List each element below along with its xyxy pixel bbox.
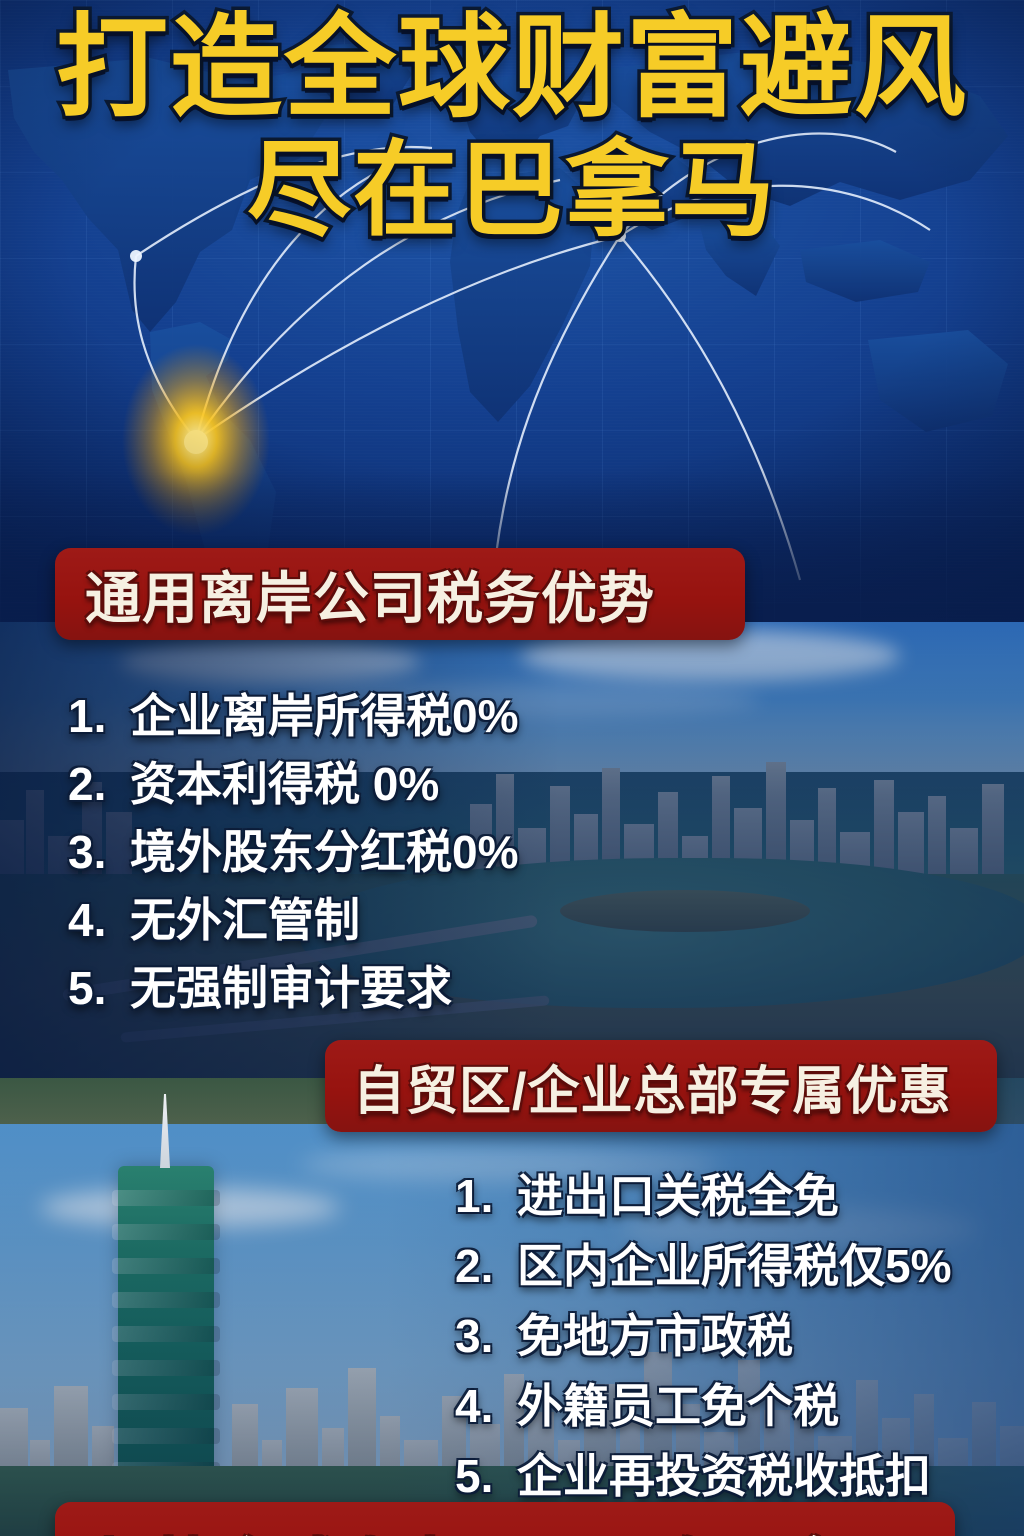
list-item: 5. 无强制审计要求 <box>68 952 518 1020</box>
list-item: 1. 进出口关税全免 <box>455 1160 951 1230</box>
list-item-label: 外籍员工免个税 <box>517 1370 839 1436</box>
bottom-banner: 加快全球资本配置 尽在巴拿马 <box>55 1502 955 1536</box>
bottom-banner-label: 加快全球资本配置 尽在巴拿马 <box>95 1519 906 1536</box>
list-item-label: 无强制审计要求 <box>130 952 452 1018</box>
list-item-label: 企业离岸所得税0% <box>130 680 518 746</box>
list-item: 5. 企业再投资税收抵扣 <box>455 1440 951 1510</box>
list-item-number: 5. <box>455 1449 517 1503</box>
list-item-label: 免地方市政税 <box>517 1300 793 1366</box>
list-item: 1. 企业离岸所得税0% <box>68 680 518 748</box>
title-line-2: 尽在巴拿马 <box>0 135 1024 247</box>
poster-title: 打造全球财富避风 尽在巴拿马 <box>0 8 1024 247</box>
banner-label-offshore: 通用离岸公司税务优势 <box>85 554 655 635</box>
list-item: 3. 境外股东分红税0% <box>68 816 518 884</box>
list-item-label: 境外股东分红税0% <box>130 816 518 882</box>
poster-root: 打造全球财富避风 尽在巴拿马 <box>0 0 1024 1536</box>
list-item: 2. 资本利得税 0% <box>68 748 518 816</box>
section-banner-freezone: 自贸区/企业总部专属优惠 <box>325 1040 997 1132</box>
list-item: 4. 外籍员工免个税 <box>455 1370 951 1440</box>
list-item-number: 1. <box>68 689 130 743</box>
list-item-number: 1. <box>455 1169 517 1223</box>
freezone-benefit-list: 1. 进出口关税全免 2. 区内企业所得税仅5% 3. 免地方市政税 4. 外籍… <box>455 1160 951 1510</box>
list-item-label: 区内企业所得税仅5% <box>517 1230 951 1296</box>
list-item-number: 2. <box>455 1239 517 1293</box>
list-item-label: 企业再投资税收抵扣 <box>517 1440 931 1506</box>
title-line-1: 打造全球财富避风 <box>0 8 1024 129</box>
list-item: 3. 免地方市政税 <box>455 1300 951 1370</box>
offshore-benefit-list: 1. 企业离岸所得税0% 2. 资本利得税 0% 3. 境外股东分红税0% 4.… <box>68 680 518 1020</box>
list-item-number: 3. <box>68 825 130 879</box>
list-item-number: 4. <box>455 1379 517 1433</box>
list-item-number: 5. <box>68 961 130 1015</box>
list-item-label: 资本利得税 0% <box>130 748 439 814</box>
list-item-number: 2. <box>68 757 130 811</box>
list-item: 2. 区内企业所得税仅5% <box>455 1230 951 1300</box>
banner-label-freezone: 自贸区/企业总部专属优惠 <box>353 1049 951 1124</box>
list-item-label: 进出口关税全免 <box>517 1160 839 1226</box>
section-banner-offshore: 通用离岸公司税务优势 <box>55 548 745 640</box>
list-item-number: 3. <box>455 1309 517 1363</box>
list-item-label: 无外汇管制 <box>130 884 360 950</box>
list-item: 4. 无外汇管制 <box>68 884 518 952</box>
list-item-number: 4. <box>68 893 130 947</box>
